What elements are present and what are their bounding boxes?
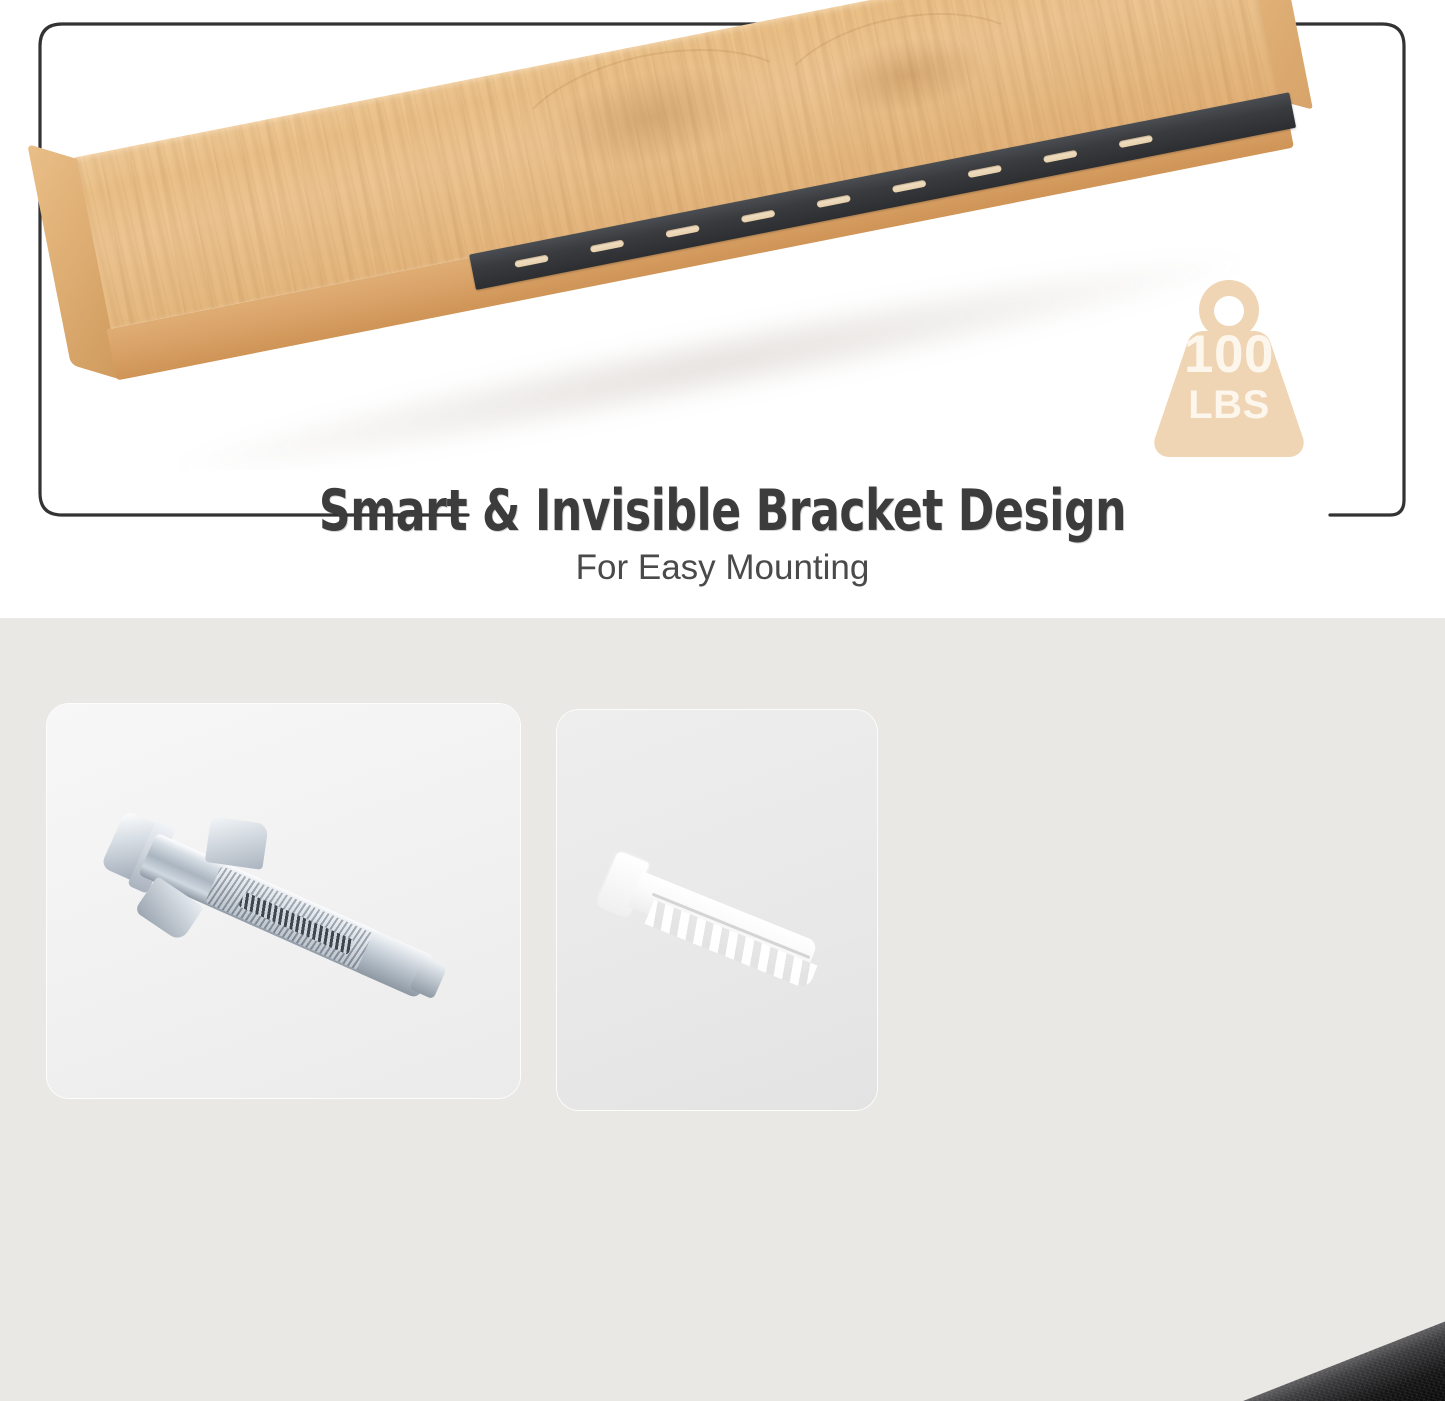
bracket-slot (967, 164, 1002, 177)
bottom-section-materials: Upgrade Metal Anchors heavy-duty Made of… (0, 618, 1445, 1401)
pipe-surface-texture (843, 1321, 1445, 1401)
bracket-slot (665, 224, 700, 237)
plastic-plug-panel (557, 710, 877, 1110)
metal-anchor-panel (47, 704, 520, 1098)
bracket-slot (816, 194, 851, 207)
bracket-slot (590, 239, 625, 252)
weight-unit: LBS (1124, 385, 1334, 425)
top-section-bracket-design: 100 LBS Smart & Invisible Bracket Design… (0, 0, 1445, 618)
bracket-slot (741, 209, 776, 222)
anchor-wing (205, 816, 269, 870)
iron-pipe-image (843, 1321, 1445, 1401)
product-infographic: 100 LBS Smart & Invisible Bracket Design… (0, 0, 1445, 1401)
page-subtitle: For Easy Mounting (0, 548, 1445, 588)
weight-capacity-badge: 100 LBS (1124, 274, 1334, 459)
weight-badge-text: 100 LBS (1124, 328, 1334, 425)
iron-pipe-body (843, 1321, 1445, 1401)
weight-value: 100 (1124, 328, 1334, 381)
bracket-slot (514, 254, 549, 267)
metal-anchor-image (47, 717, 516, 1098)
bracket-slot (1043, 149, 1078, 162)
page-title: Smart & Invisible Bracket Design (101, 478, 1344, 544)
bracket-slot (1118, 134, 1153, 147)
bracket-slot (892, 179, 927, 192)
plastic-wall-plug-image (584, 832, 857, 1028)
